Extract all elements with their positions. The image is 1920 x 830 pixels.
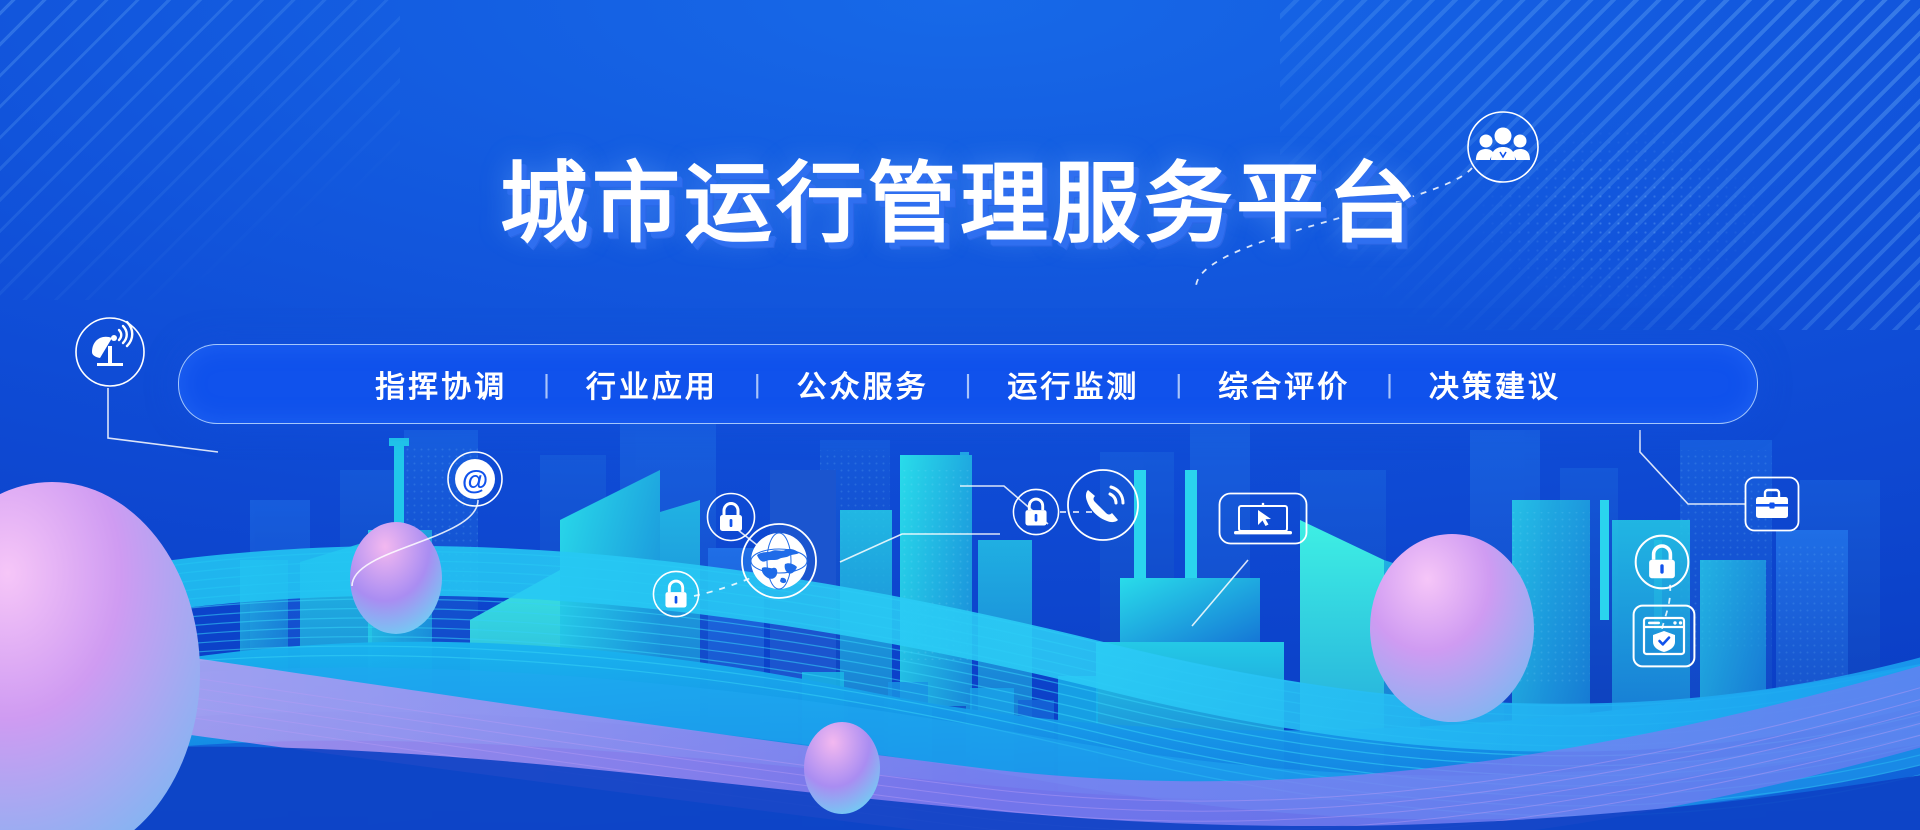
nav-separator: |	[752, 369, 763, 400]
lock-icon	[1634, 534, 1690, 590]
decor-sphere-left	[0, 482, 200, 830]
city-platform-banner: @	[0, 0, 1920, 830]
decor-sphere-right	[1370, 534, 1534, 722]
nav-item-2[interactable]: 行业应用	[552, 362, 752, 406]
people-group-icon	[1466, 110, 1540, 184]
browser-shield-icon	[1632, 604, 1696, 668]
nav-item-1[interactable]: 指挥协调	[341, 362, 541, 406]
nav-item-3[interactable]: 公众服务	[763, 362, 963, 406]
at-email-icon: @	[446, 450, 504, 508]
phone-signal-icon	[1066, 468, 1140, 542]
lock-icon	[1012, 488, 1060, 536]
satellite-dish-icon	[74, 316, 146, 388]
nav-separator: |	[963, 369, 974, 400]
lock-icon	[652, 570, 700, 618]
laptop-cursor-icon	[1218, 492, 1308, 552]
globe-icon	[740, 522, 818, 600]
nav-separator: |	[1384, 369, 1395, 400]
decor-sphere-small-center	[804, 722, 880, 814]
nav-item-5[interactable]: 综合评价	[1184, 362, 1384, 406]
briefcase-icon	[1744, 476, 1800, 532]
nav-separator: |	[541, 369, 552, 400]
nav-item-6[interactable]: 决策建议	[1395, 362, 1595, 406]
nav-separator: |	[1173, 369, 1184, 400]
svg-text:@: @	[462, 465, 488, 495]
primary-nav-bar: 指挥协调|行业应用|公众服务|运行监测|综合评价|决策建议	[178, 344, 1758, 424]
nav-item-4[interactable]: 运行监测	[973, 362, 1173, 406]
